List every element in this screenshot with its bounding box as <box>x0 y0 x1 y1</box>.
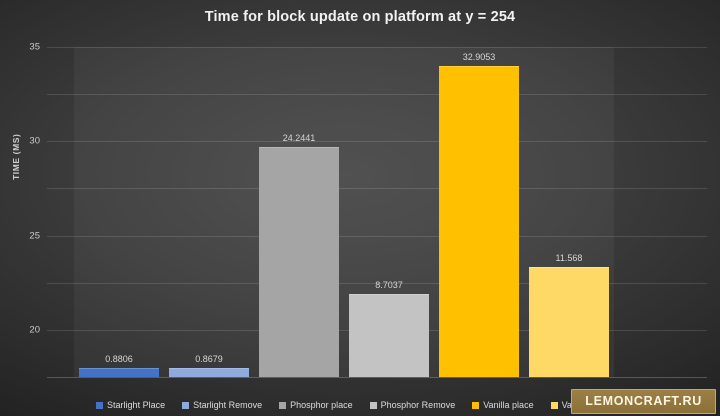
y-axis-tick-label: 30 <box>29 136 40 147</box>
watermark-badge: LEMONCRAFT.RU <box>571 389 716 414</box>
bar-value-label: 8.7037 <box>349 280 428 290</box>
legend-item-label: Phosphor place <box>290 400 353 410</box>
bar[interactable] <box>259 147 338 377</box>
legend-swatch-icon <box>551 402 558 409</box>
legend-item-label: Starlight Place <box>107 400 165 410</box>
bar-slot: 32.9053 <box>439 47 518 377</box>
bar-value-label: 0.8806 <box>79 354 158 364</box>
bar-slot: 11.568 <box>529 47 608 377</box>
bars-layer: 0.88060.867924.24418.703732.905311.568 <box>47 47 707 377</box>
bar-value-label: 32.9053 <box>439 52 518 62</box>
y-axis-title: TIME (MS) <box>11 166 21 180</box>
legend-swatch-icon <box>472 402 479 409</box>
legend-item[interactable]: Starlight Place <box>96 400 165 410</box>
bar[interactable] <box>529 267 608 377</box>
bar-value-label: 24.2441 <box>259 133 338 143</box>
bar-value-label: 0.8679 <box>169 354 248 364</box>
bar[interactable] <box>439 66 518 377</box>
legend-swatch-icon <box>279 402 286 409</box>
legend-item-label: Vanilla place <box>483 400 533 410</box>
legend-item[interactable]: Vanilla place <box>472 400 533 410</box>
y-axis-tick-label: 25 <box>29 230 40 241</box>
legend-item[interactable]: Phosphor Remove <box>370 400 456 410</box>
legend-swatch-icon <box>182 402 189 409</box>
bar-chart: Time for block update on platform at y =… <box>0 0 720 416</box>
bar-slot: 8.7037 <box>349 47 428 377</box>
bar-value-label: 11.568 <box>529 253 608 263</box>
plot-area: 05101520253035 0.88060.867924.24418.7037… <box>47 47 707 377</box>
bar[interactable] <box>169 368 248 377</box>
bar-slot: 24.2441 <box>259 47 338 377</box>
y-axis-tick-label: 35 <box>29 42 40 53</box>
bar[interactable] <box>79 368 158 377</box>
gridline: 0 <box>47 377 707 378</box>
legend-item[interactable]: Phosphor place <box>279 400 353 410</box>
bar-slot: 0.8806 <box>79 47 158 377</box>
y-axis-tick-label: 20 <box>29 324 40 335</box>
legend-item[interactable]: Starlight Remove <box>182 400 262 410</box>
bar[interactable] <box>349 294 428 377</box>
legend-item-label: Starlight Remove <box>193 400 262 410</box>
chart-title: Time for block update on platform at y =… <box>0 9 720 25</box>
legend-swatch-icon <box>96 402 103 409</box>
bar-slot: 0.8679 <box>169 47 248 377</box>
legend-item-label: Phosphor Remove <box>381 400 456 410</box>
legend-swatch-icon <box>370 402 377 409</box>
